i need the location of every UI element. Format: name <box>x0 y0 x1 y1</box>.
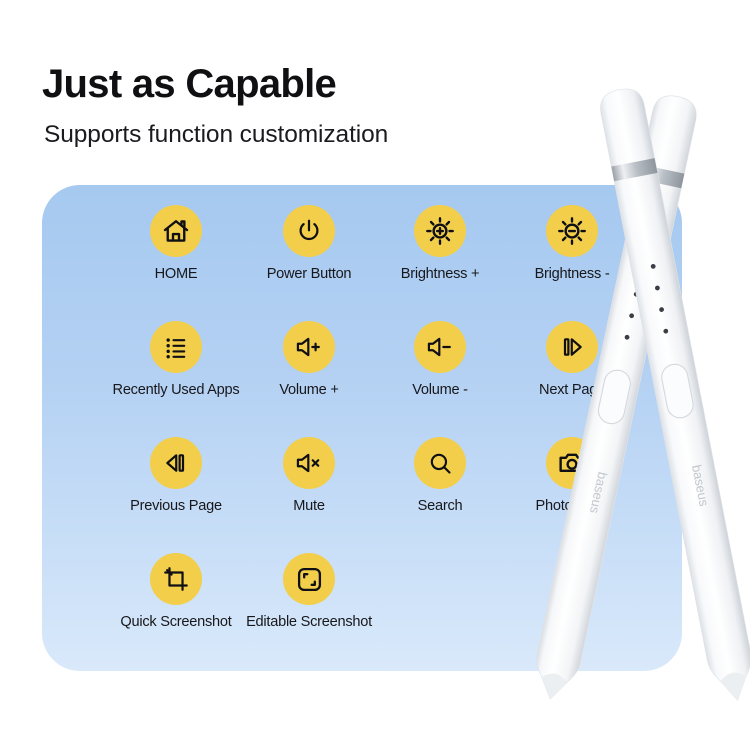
brightness-up-icon[interactable] <box>414 205 466 257</box>
function-label: Mute <box>234 498 384 514</box>
function-label: Next Page <box>497 382 647 398</box>
function-item[interactable]: Search <box>365 437 515 514</box>
function-label: Brightness - <box>497 266 647 282</box>
right-pen-band <box>611 158 657 181</box>
power-icon[interactable] <box>283 205 335 257</box>
function-item[interactable]: Photograph <box>497 437 647 514</box>
function-label: Quick Screenshot <box>101 614 251 630</box>
function-item[interactable]: Brightness + <box>365 205 515 282</box>
camera-icon[interactable] <box>546 437 598 489</box>
editable-screenshot-icon[interactable] <box>283 553 335 605</box>
mute-icon[interactable] <box>283 437 335 489</box>
function-item[interactable]: Quick Screenshot <box>101 553 251 630</box>
function-item[interactable]: Volume + <box>234 321 384 398</box>
product-feature-image: Just as Capable Supports function custom… <box>0 0 750 750</box>
page-subtitle: Supports function customization <box>44 121 388 149</box>
function-label: Volume - <box>365 382 515 398</box>
crop-icon[interactable] <box>150 553 202 605</box>
function-label: Editable Screenshot <box>234 614 384 630</box>
function-label: Search <box>365 498 515 514</box>
left-pen-tip <box>537 671 568 702</box>
function-item[interactable]: Power Button <box>234 205 384 282</box>
page-title: Just as Capable <box>42 62 336 107</box>
volume-up-icon[interactable] <box>283 321 335 373</box>
function-item[interactable]: Mute <box>234 437 384 514</box>
function-item[interactable]: Next Page <box>497 321 647 398</box>
function-item[interactable]: HOME <box>101 205 251 282</box>
function-label: Brightness + <box>365 266 515 282</box>
function-item[interactable]: Brightness - <box>497 205 647 282</box>
function-label: Volume + <box>234 382 384 398</box>
previous-page-icon[interactable] <box>150 437 202 489</box>
function-item[interactable]: Editable Screenshot <box>234 553 384 630</box>
function-label: Recently Used Apps <box>101 382 251 398</box>
function-label: Previous Page <box>101 498 251 514</box>
search-icon[interactable] <box>414 437 466 489</box>
function-item[interactable]: Previous Page <box>101 437 251 514</box>
home-icon[interactable] <box>150 205 202 257</box>
brightness-down-icon[interactable] <box>546 205 598 257</box>
function-label: Power Button <box>234 266 384 282</box>
right-pen-tip <box>719 670 750 702</box>
list-icon[interactable] <box>150 321 202 373</box>
next-page-icon[interactable] <box>546 321 598 373</box>
volume-down-icon[interactable] <box>414 321 466 373</box>
function-grid: HOMEPower ButtonBrightness +Brightness -… <box>42 205 682 665</box>
function-label: Photograph <box>497 498 647 514</box>
function-item[interactable]: Recently Used Apps <box>101 321 251 398</box>
function-item[interactable]: Volume - <box>365 321 515 398</box>
right-pen-brand-label: baseus <box>689 463 712 508</box>
function-label: HOME <box>101 266 251 282</box>
